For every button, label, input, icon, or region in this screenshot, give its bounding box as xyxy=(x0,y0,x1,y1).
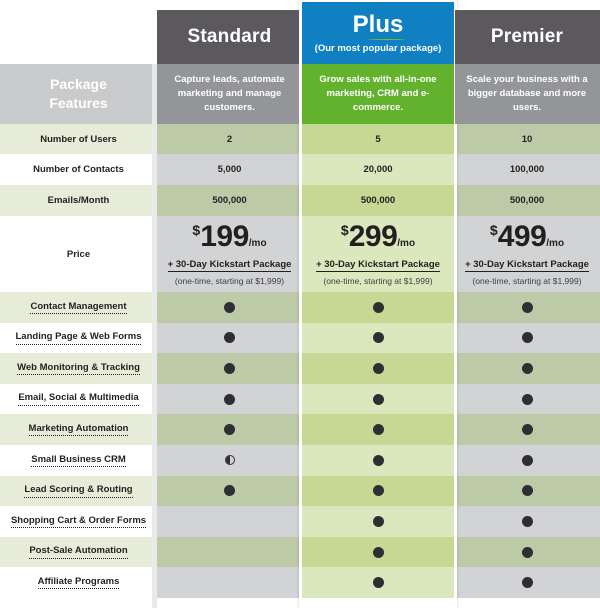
cell-value: 20,000 xyxy=(363,164,392,175)
cell-premier-feature-1 xyxy=(454,323,600,354)
feature-link[interactable]: Contact Management xyxy=(30,301,126,314)
feature-link[interactable]: Lead Scoring & Routing xyxy=(24,484,132,497)
full-dot-icon xyxy=(522,516,533,527)
cell-plus-price: $299/mo+ 30-Day Kickstart Package(one-ti… xyxy=(302,216,454,292)
cell-standard-feature-9 xyxy=(157,567,302,598)
price-value: 199 xyxy=(200,220,249,253)
cell-plus-feature-5 xyxy=(302,445,454,476)
cell-plus-feature-0 xyxy=(302,292,454,323)
full-dot-icon xyxy=(522,302,533,313)
full-dot-icon xyxy=(224,332,235,343)
cell-value: 5 xyxy=(375,134,380,145)
package-comparison-table: Standard Plus (Our most popular package)… xyxy=(0,0,600,608)
row-label-feature-5: Small Business CRM xyxy=(0,445,157,476)
full-dot-icon xyxy=(373,516,384,527)
cell-standard-feature-6 xyxy=(157,476,302,507)
feature-link[interactable]: Landing Page & Web Forms xyxy=(16,331,142,344)
price-period: /mo xyxy=(397,238,415,249)
cell-premier-feature-6 xyxy=(454,476,600,507)
cell-value: 5,000 xyxy=(218,164,242,175)
cell-premier-feature-4 xyxy=(454,414,600,445)
cell-premier-feature-5 xyxy=(454,445,600,476)
full-dot-icon xyxy=(373,394,384,405)
kickstart-link-standard[interactable]: + 30-Day Kickstart Package xyxy=(168,259,292,272)
cell-premier-feature-3 xyxy=(454,384,600,415)
cell-plus-feature-9 xyxy=(302,567,454,598)
price-amount-plus: $299/mo xyxy=(341,222,415,252)
package-description-premier: Scale your business with a bigger databa… xyxy=(454,64,600,124)
description-text-premier: Scale your business with a bigger databa… xyxy=(466,73,588,114)
cell-plus-feature-2 xyxy=(302,353,454,384)
cell-premier-feature-0 xyxy=(454,292,600,323)
full-dot-icon xyxy=(373,332,384,343)
package-description-plus: Grow sales with all-in-one marketing, CR… xyxy=(302,64,454,124)
full-dot-icon xyxy=(373,363,384,374)
cell-plus-contacts: 20,000 xyxy=(302,154,454,185)
feature-link[interactable]: Shopping Cart & Order Forms xyxy=(11,515,146,528)
package-name-premier: Premier xyxy=(491,26,563,48)
package-features-heading: Package Features xyxy=(0,64,157,124)
cell-value: 2 xyxy=(227,134,232,145)
cell-premier-feature-7 xyxy=(454,506,600,537)
cell-standard-feature-8 xyxy=(157,537,302,568)
package-name-plus: Plus xyxy=(353,12,404,37)
cell-premier-emails: 500,000 xyxy=(454,185,600,216)
cell-plus-feature-1 xyxy=(302,323,454,354)
full-dot-icon xyxy=(373,424,384,435)
price-currency: $ xyxy=(341,222,349,238)
cell-value: 500,000 xyxy=(212,195,246,206)
package-tagline-plus: (Our most popular package) xyxy=(315,43,442,54)
package-name-standard: Standard xyxy=(188,26,272,48)
cell-standard-users: 2 xyxy=(157,124,302,154)
cell-standard-feature-5 xyxy=(157,445,302,476)
cell-premier-price: $499/mo+ 30-Day Kickstart Package(one-ti… xyxy=(454,216,600,292)
feature-link[interactable]: Marketing Automation xyxy=(29,423,129,436)
full-dot-icon xyxy=(373,302,384,313)
cell-plus-feature-4 xyxy=(302,414,454,445)
package-description-standard: Capture leads, automate marketing and ma… xyxy=(157,64,302,124)
cell-value: 10 xyxy=(522,134,533,145)
full-dot-icon xyxy=(522,455,533,466)
cell-standard-feature-7 xyxy=(157,506,302,537)
description-text-plus: Grow sales with all-in-one marketing, CR… xyxy=(314,73,442,114)
column-header-standard: Standard xyxy=(157,10,302,64)
cell-standard-feature-0 xyxy=(157,292,302,323)
cell-standard-feature-3 xyxy=(157,384,302,415)
label-column-edge xyxy=(152,64,157,608)
cell-premier-contacts: 100,000 xyxy=(454,154,600,185)
feature-link[interactable]: Affiliate Programs xyxy=(38,576,120,589)
full-dot-icon xyxy=(522,485,533,496)
row-label-feature-3: Email, Social & Multimedia xyxy=(0,384,157,415)
cell-plus-feature-7 xyxy=(302,506,454,537)
row-label-feature-2: Web Monitoring & Tracking xyxy=(0,353,157,384)
cell-plus-feature-3 xyxy=(302,384,454,415)
full-dot-icon xyxy=(522,394,533,405)
full-dot-icon xyxy=(373,547,384,558)
feature-link[interactable]: Email, Social & Multimedia xyxy=(18,392,138,405)
full-dot-icon xyxy=(224,424,235,435)
full-dot-icon xyxy=(522,363,533,374)
kickstart-note-premier: (one-time, starting at $1,999) xyxy=(472,276,581,286)
row-label-contacts: Number of Contacts xyxy=(0,154,157,185)
cell-plus-feature-8 xyxy=(302,537,454,568)
row-label-feature-4: Marketing Automation xyxy=(0,414,157,445)
cell-standard-contacts: 5,000 xyxy=(157,154,302,185)
cell-plus-emails: 500,000 xyxy=(302,185,454,216)
cell-premier-users: 10 xyxy=(454,124,600,154)
cell-plus-feature-6 xyxy=(302,476,454,507)
feature-link[interactable]: Small Business CRM xyxy=(31,454,126,467)
cell-standard-feature-1 xyxy=(157,323,302,354)
price-value: 499 xyxy=(498,220,547,253)
cell-standard-price: $199/mo+ 30-Day Kickstart Package(one-ti… xyxy=(157,216,302,292)
cell-standard-feature-4 xyxy=(157,414,302,445)
row-label-text: Number of Contacts xyxy=(33,164,124,175)
kickstart-link-plus[interactable]: + 30-Day Kickstart Package xyxy=(316,259,440,272)
feature-link[interactable]: Post-Sale Automation xyxy=(29,545,127,558)
cell-standard-emails: 500,000 xyxy=(157,185,302,216)
column-header-plus: Plus (Our most popular package) xyxy=(302,2,454,64)
cell-standard-feature-2 xyxy=(157,353,302,384)
price-amount-standard: $199/mo xyxy=(192,222,266,252)
full-dot-icon xyxy=(373,485,384,496)
row-label-text: Emails/Month xyxy=(48,195,110,206)
row-label-feature-6: Lead Scoring & Routing xyxy=(0,476,157,507)
cell-premier-feature-2 xyxy=(454,353,600,384)
kickstart-note-plus: (one-time, starting at $1,999) xyxy=(323,276,432,286)
full-dot-icon xyxy=(373,455,384,466)
row-label-text: Price xyxy=(67,249,90,260)
row-label-feature-7: Shopping Cart & Order Forms xyxy=(0,506,157,537)
row-label-users: Number of Users xyxy=(0,124,157,154)
row-label-feature-9: Affiliate Programs xyxy=(0,567,157,598)
cell-value: 100,000 xyxy=(510,164,544,175)
description-text-standard: Capture leads, automate marketing and ma… xyxy=(169,73,290,114)
cell-premier-feature-8 xyxy=(454,537,600,568)
feature-link[interactable]: Web Monitoring & Tracking xyxy=(17,362,140,375)
full-dot-icon xyxy=(522,332,533,343)
cell-plus-users: 5 xyxy=(302,124,454,154)
row-label-text: Number of Users xyxy=(40,134,117,145)
cell-value: 500,000 xyxy=(510,195,544,206)
full-dot-icon xyxy=(522,547,533,558)
package-features-heading-text: Package Features xyxy=(49,75,107,113)
row-label-feature-1: Landing Page & Web Forms xyxy=(0,323,157,354)
kickstart-link-premier[interactable]: + 30-Day Kickstart Package xyxy=(465,259,589,272)
column-header-premier: Premier xyxy=(454,10,600,64)
cell-premier-feature-9 xyxy=(454,567,600,598)
kickstart-note-standard: (one-time, starting at $1,999) xyxy=(175,276,284,286)
row-label-price: Price xyxy=(0,216,157,292)
half-dot-icon xyxy=(225,455,235,465)
row-label-feature-0: Contact Management xyxy=(0,292,157,323)
full-dot-icon xyxy=(522,424,533,435)
row-label-feature-8: Post-Sale Automation xyxy=(0,537,157,568)
full-dot-icon xyxy=(224,302,235,313)
full-dot-icon xyxy=(224,363,235,374)
full-dot-icon xyxy=(224,394,235,405)
row-label-emails: Emails/Month xyxy=(0,185,157,216)
price-period: /mo xyxy=(249,238,267,249)
price-value: 299 xyxy=(349,220,398,253)
full-dot-icon xyxy=(224,485,235,496)
cell-value: 500,000 xyxy=(361,195,395,206)
full-dot-icon xyxy=(373,577,384,588)
full-dot-icon xyxy=(522,577,533,588)
price-amount-premier: $499/mo xyxy=(490,222,564,252)
price-period: /mo xyxy=(546,238,564,249)
price-currency: $ xyxy=(490,222,498,238)
